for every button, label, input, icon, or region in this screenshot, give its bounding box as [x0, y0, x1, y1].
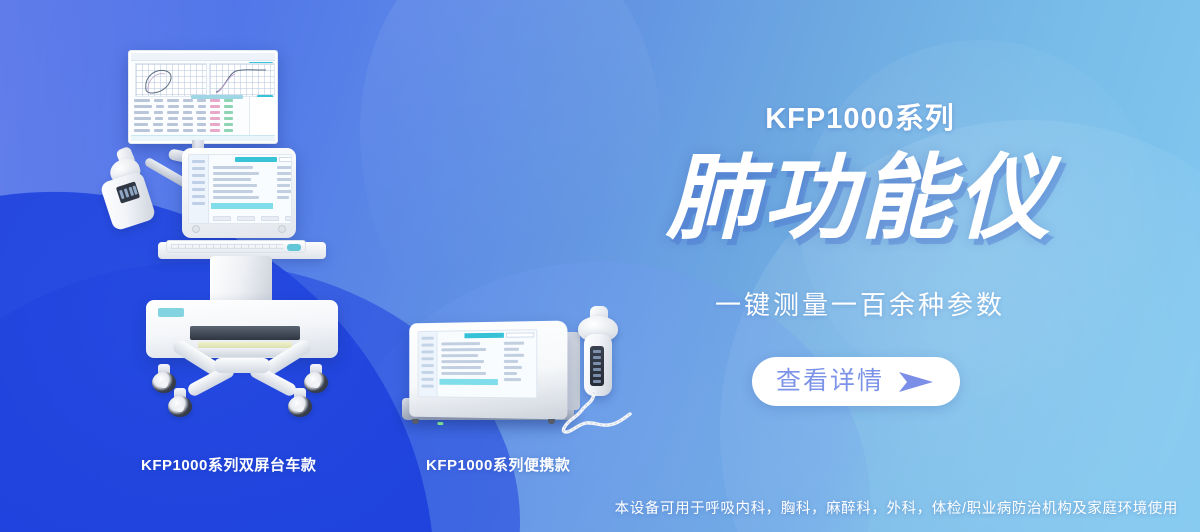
caption-portable-model: KFP1000系列便携款 — [426, 454, 570, 475]
subtitle: 一键测量一百余种参数 — [640, 285, 1080, 322]
product-image-cart — [96, 44, 346, 444]
cart-base-legs — [152, 352, 332, 416]
portable-selected-row — [439, 379, 497, 385]
printer-slot — [190, 326, 300, 340]
usage-footnote: 本设备可用于呼吸内科，胸科，麻醉科，外科，体检/职业病防治机构及家庭环境使用 — [615, 497, 1178, 518]
portable-table-header-2 — [506, 332, 534, 337]
tablet-sidebar — [189, 155, 209, 223]
product-image-portable — [398, 306, 638, 436]
spirometer-display — [590, 346, 604, 386]
page-title: 肺功能仪 — [640, 148, 1080, 248]
portable-sidebar — [419, 332, 438, 397]
cart-tablet-console — [182, 148, 296, 238]
cart-monitor-screen — [131, 53, 275, 141]
cart-handheld-spirometer — [100, 148, 162, 240]
cart-column — [210, 256, 272, 306]
view-details-button[interactable]: 查看详情 — [752, 357, 960, 406]
cart-tablet-screen — [188, 154, 292, 224]
monitor-results-table — [134, 99, 244, 139]
printer-brand-badge — [158, 308, 184, 317]
portable-console — [409, 321, 567, 420]
portable-handheld-spirometer — [566, 306, 630, 416]
caption-cart-model: KFP1000系列双屏台车款 — [141, 454, 316, 475]
cart-keyboard — [166, 240, 306, 253]
flow-volume-loop-plot — [135, 63, 207, 97]
caster-wheel — [288, 388, 312, 416]
portable-table-header — [464, 333, 503, 339]
series-eyebrow: KFP1000系列 — [640, 95, 1080, 137]
portable-power-led — [438, 422, 444, 425]
arrow-right-icon — [896, 369, 936, 395]
tablet-table-header — [235, 157, 277, 162]
view-details-label: 查看详情 — [776, 369, 884, 394]
keyboard-trackpad — [287, 244, 301, 251]
monitor-toolbar — [131, 53, 275, 61]
caster-wheel — [168, 388, 192, 416]
volume-time-plot — [209, 63, 275, 97]
headline-block: KFP1000系列 肺功能仪 一键测量一百余种参数 查看详情 — [640, 0, 1160, 532]
keyboard-keys — [171, 244, 283, 249]
tablet-bezel — [182, 220, 296, 236]
cart-monitor — [128, 50, 278, 144]
product-banner: KFP1000系列双屏台车款 KFP1000系列便携款 KFP1000系列 肺功… — [0, 0, 1200, 532]
tablet-table-header-2 — [279, 157, 292, 162]
portable-screen — [418, 329, 538, 398]
tablet-selected-row — [211, 203, 273, 209]
spirometer-coiled-cable — [560, 390, 634, 434]
